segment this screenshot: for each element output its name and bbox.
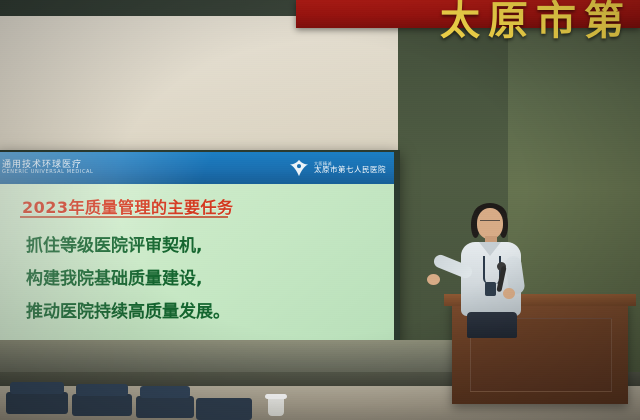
slide-brand: 通用技术环球医疗 GENERIC UNIVERSAL MEDICAL	[2, 161, 93, 176]
paper-cup	[268, 396, 284, 416]
slide-title: 2023年质量管理的主要任务	[22, 194, 234, 218]
slide-header-bar: 通用技术环球医疗 GENERIC UNIVERSAL MEDICAL 大医精诚 …	[0, 152, 394, 184]
speaker-right-hand	[503, 288, 515, 299]
chair-1	[6, 392, 68, 414]
slide-title-underline	[20, 216, 228, 218]
chair-2-back	[76, 384, 128, 396]
speaker-left-hand	[427, 274, 440, 285]
chair-4	[196, 398, 252, 420]
slide-body-line-1: 抓住等级医院评审契机,	[26, 230, 366, 263]
hospital-motto: 大医精诚	[314, 162, 386, 166]
chair-2	[72, 394, 132, 416]
paper-cup-lid	[265, 394, 287, 399]
photo-scene: 太原市第 通用技术环球医疗 GENERIC UNIVERSAL MEDICAL …	[0, 0, 640, 420]
slide-brand-en: GENERIC UNIVERSAL MEDICAL	[2, 170, 93, 175]
slide-hospital-logo: 大医精诚 太原市第七人民医院	[288, 158, 386, 178]
hospital-emblem-icon	[288, 158, 310, 178]
chair-3	[136, 396, 194, 418]
speaker	[425, 208, 545, 348]
slide-body-line-3: 推动医院持续高质量发展。	[26, 296, 366, 329]
speaker-badge	[485, 282, 496, 296]
projection-screen-frame: 通用技术环球医疗 GENERIC UNIVERSAL MEDICAL 大医精诚 …	[0, 150, 400, 346]
slide-body-line-2: 构建我院基础质量建设,	[26, 263, 366, 296]
speaker-skirt	[467, 312, 517, 338]
chair-3-back	[140, 386, 190, 398]
speaker-glasses	[480, 220, 500, 227]
chair-1-back	[10, 382, 64, 394]
hospital-name-block: 大医精诚 太原市第七人民医院	[314, 162, 386, 174]
projection-screen: 通用技术环球医疗 GENERIC UNIVERSAL MEDICAL 大医精诚 …	[0, 152, 394, 342]
slide-body: 抓住等级医院评审契机, 构建我院基础质量建设, 推动医院持续高质量发展。	[26, 230, 366, 329]
banner-text: 太原市第	[440, 0, 632, 46]
hospital-name: 太原市第七人民医院	[314, 166, 386, 174]
